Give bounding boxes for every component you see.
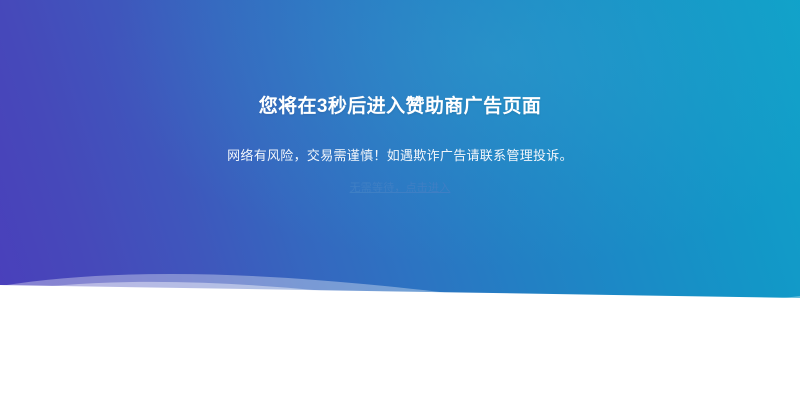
wave-layer-left-sliver — [0, 294, 200, 327]
skip-wait-link[interactable]: 无需等待，点击进入 — [350, 182, 451, 194]
message-block: 您将在3秒后进入赞助商广告页面 网络有风险，交易需谨慎！如遇欺诈广告请联系管理投… — [0, 0, 800, 196]
skip-link-row: 无需等待，点击进入 — [0, 166, 800, 196]
page-background-base — [0, 348, 800, 418]
risk-notice-text: 网络有风险，交易需谨慎！如遇欺诈广告请联系管理投诉。 — [0, 120, 800, 166]
page-title: 您将在3秒后进入赞助商广告页面 — [0, 94, 800, 120]
redirect-interstitial-page: 您将在3秒后进入赞助商广告页面 网络有风险，交易需谨慎！如遇欺诈广告请联系管理投… — [0, 0, 800, 418]
